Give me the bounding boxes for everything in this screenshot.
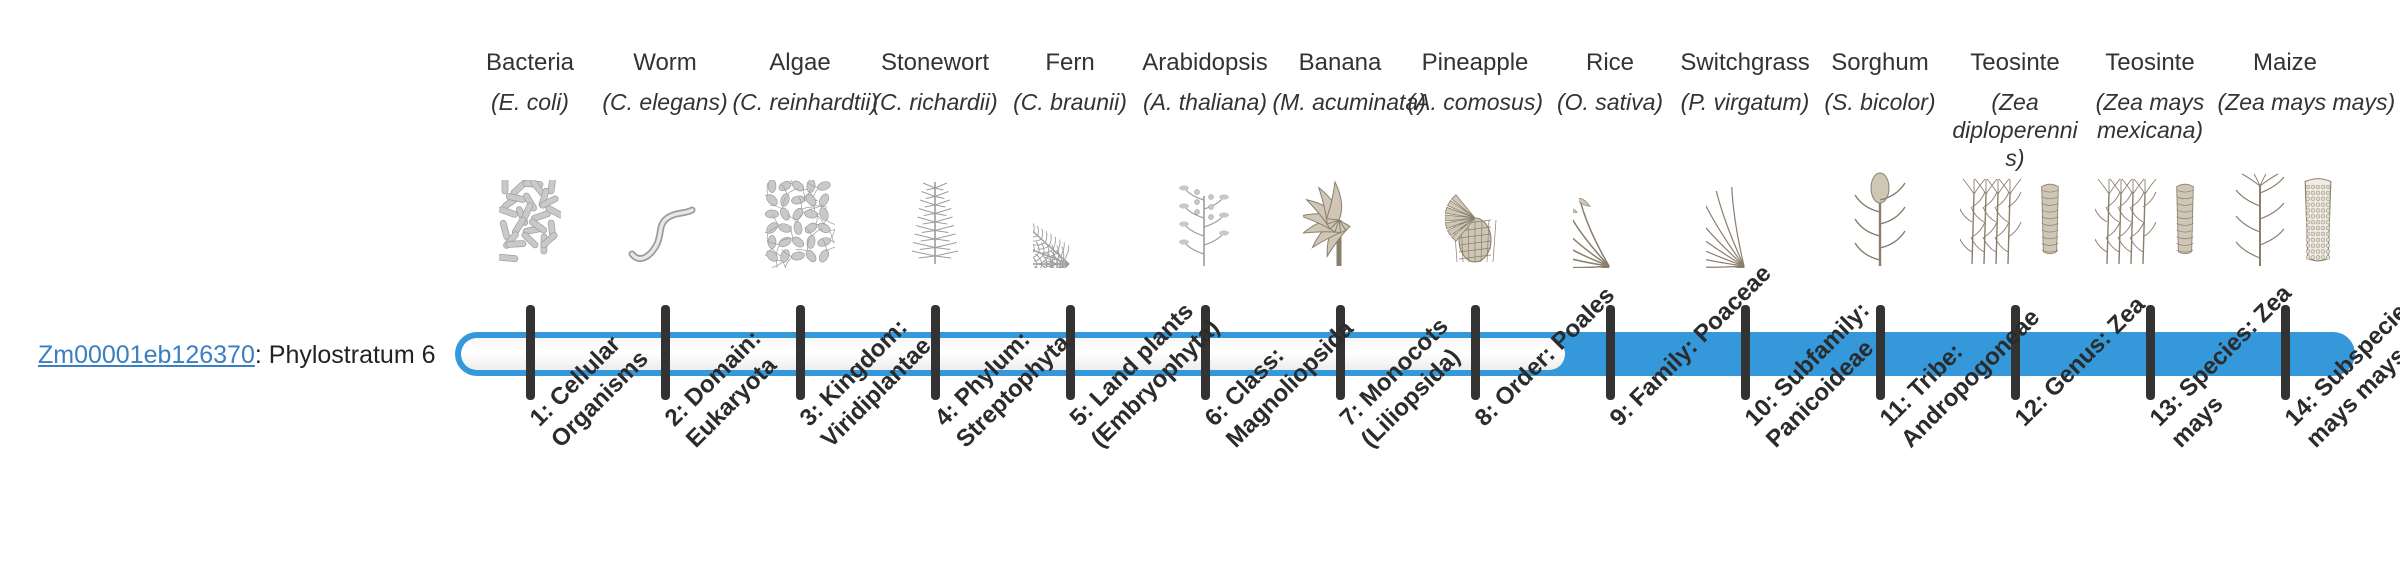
- species-latin-name: (C. elegans): [598, 88, 733, 116]
- stratum-tick-9[interactable]: [1606, 305, 1615, 400]
- species-column-7: Banana(M. acuminata): [1273, 48, 1408, 116]
- species-latin-name: (E. coli): [463, 88, 598, 116]
- species-latin-name: (C. braunii): [1003, 88, 1138, 116]
- worm-icon: [598, 178, 733, 268]
- sorghum-icon: [1813, 178, 1948, 268]
- stonewort-icon: [868, 178, 1003, 268]
- species-column-8: Pineapple(A. comosus): [1408, 48, 1543, 116]
- species-common-name: Rice: [1543, 48, 1678, 78]
- species-column-12: Teosinte(Zea diploperennis): [1948, 48, 2083, 172]
- teosinte-mexicana-icon: [2083, 178, 2218, 268]
- species-column-2: Worm(C. elegans): [598, 48, 733, 116]
- species-latin-name: (O. sativa): [1543, 88, 1678, 116]
- species-column-3: Algae(C. reinhardtii): [733, 48, 868, 116]
- stratum-tick-1[interactable]: [526, 305, 535, 400]
- switchgrass-icon: [1678, 178, 1813, 268]
- species-common-name: Algae: [733, 48, 868, 78]
- species-common-name: Switchgrass: [1678, 48, 1813, 78]
- bacteria-icon: [463, 178, 598, 268]
- algae-icon: [733, 178, 868, 268]
- phylostratum-text: Phylostratum 6: [269, 341, 436, 369]
- species-latin-name: (C. reinhardtii): [733, 88, 868, 116]
- species-column-5: Fern(C. braunii): [1003, 48, 1138, 116]
- species-common-name: Bacteria: [463, 48, 598, 78]
- species-latin-name: (S. bicolor): [1813, 88, 1948, 116]
- fern-icon: [1003, 178, 1138, 268]
- species-latin-name: (Zea mays mexicana): [2083, 88, 2218, 144]
- gene-phylostratum-label: Zm00001eb126370: Phylostratum 6: [38, 340, 436, 370]
- species-column-9: Rice(O. sativa): [1543, 48, 1678, 116]
- species-column-11: Sorghum(S. bicolor): [1813, 48, 1948, 116]
- phylostratigraphy-figure: Zm00001eb126370: Phylostratum 6 Bacteria…: [0, 0, 2400, 580]
- species-column-13: Teosinte(Zea mays mexicana): [2083, 48, 2218, 144]
- species-column-4: Stonewort(C. richardii): [868, 48, 1003, 116]
- species-common-name: Arabidopsis: [1138, 48, 1273, 78]
- gene-label-separator: :: [255, 341, 269, 369]
- species-common-name: Banana: [1273, 48, 1408, 78]
- species-common-name: Pineapple: [1408, 48, 1543, 78]
- rice-icon: [1543, 178, 1678, 268]
- species-latin-name: (Zea mays mays): [2218, 88, 2353, 116]
- species-common-name: Teosinte: [1948, 48, 2083, 78]
- stratum-tick-13[interactable]: [2146, 305, 2155, 400]
- stratum-tick-10[interactable]: [1741, 305, 1750, 400]
- species-column-14: Maize(Zea mays mays): [2218, 48, 2353, 116]
- species-column-6: Arabidopsis(A. thaliana): [1138, 48, 1273, 116]
- species-common-name: Stonewort: [868, 48, 1003, 78]
- maize-icon: [2218, 178, 2353, 268]
- species-common-name: Sorghum: [1813, 48, 1948, 78]
- arabidopsis-icon: [1138, 178, 1273, 268]
- pineapple-icon: [1408, 178, 1543, 268]
- species-common-name: Maize: [2218, 48, 2353, 78]
- teosinte-diploperennis-icon: [1948, 178, 2083, 268]
- species-column-1: Bacteria(E. coli): [463, 48, 598, 116]
- species-latin-name: (M. acuminata): [1273, 88, 1408, 116]
- species-column-10: Switchgrass(P. virgatum): [1678, 48, 1813, 116]
- species-latin-name: (Zea diploperennis): [1948, 88, 2083, 172]
- species-latin-name: (A. thaliana): [1138, 88, 1273, 116]
- species-common-name: Teosinte: [2083, 48, 2218, 78]
- species-common-name: Worm: [598, 48, 733, 78]
- banana-icon: [1273, 178, 1408, 268]
- species-latin-name: (C. richardii): [868, 88, 1003, 116]
- gene-accession-link[interactable]: Zm00001eb126370: [38, 341, 255, 369]
- species-latin-name: (P. virgatum): [1678, 88, 1813, 116]
- species-latin-name: (A. comosus): [1408, 88, 1543, 116]
- species-common-name: Fern: [1003, 48, 1138, 78]
